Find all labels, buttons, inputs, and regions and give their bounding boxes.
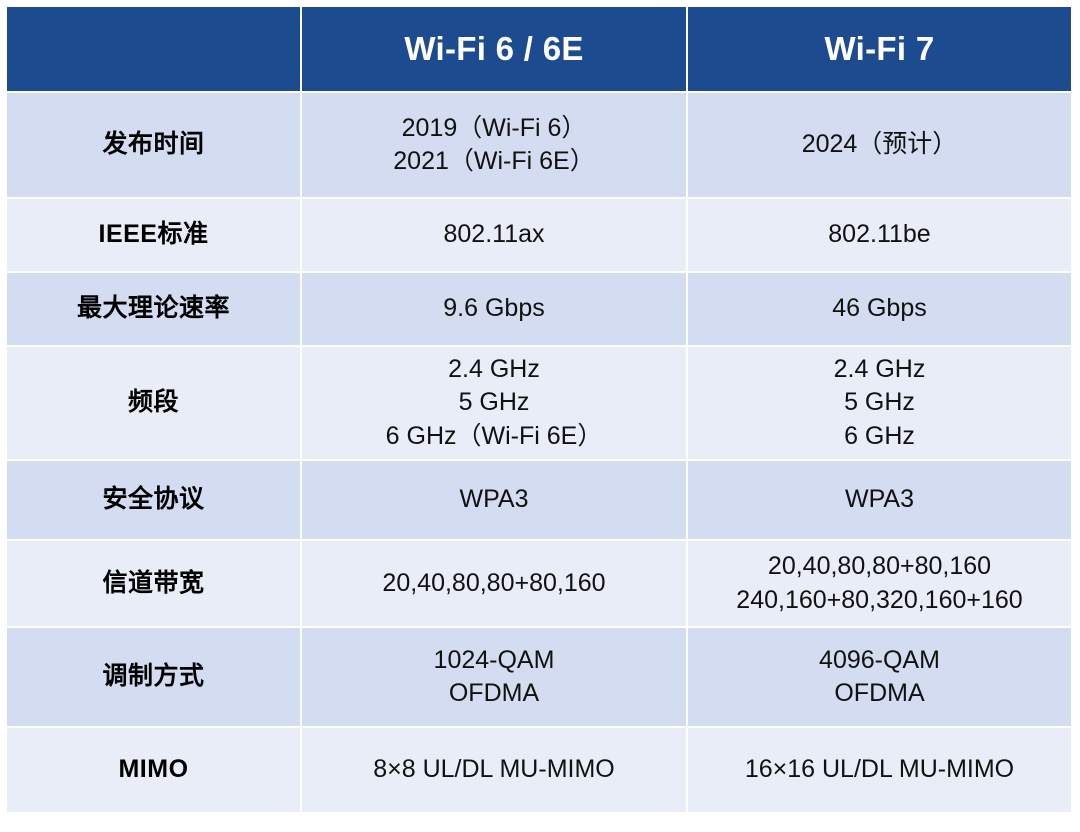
cell-lines: 802.11be: [694, 218, 1065, 252]
cell-line: 20,40,80,80+80,160: [308, 567, 680, 601]
table-header-row: Wi-Fi 6 / 6E Wi-Fi 7: [7, 7, 1071, 91]
row-label-ieee-standard: IEEE标准: [7, 199, 300, 271]
cell-line: 46 Gbps: [694, 292, 1065, 326]
cell-lines: 2024（预计）: [694, 128, 1065, 162]
cell-line: 5 GHz: [694, 386, 1065, 420]
table-row: MIMO 8×8 UL/DL MU-MIMO 16×16 UL/DL MU-MI…: [7, 728, 1071, 812]
cell-wifi7-frequency-bands: 2.4 GHz 5 GHz 6 GHz: [688, 347, 1071, 459]
row-label-channel-bandwidth: 信道带宽: [7, 541, 300, 626]
cell-wifi6-mimo: 8×8 UL/DL MU-MIMO: [302, 728, 686, 812]
cell-lines: 2.4 GHz 5 GHz 6 GHz（Wi-Fi 6E）: [308, 353, 680, 454]
wifi-comparison-table: Wi-Fi 6 / 6E Wi-Fi 7 发布时间 2019（Wi-Fi 6） …: [5, 5, 1073, 814]
cell-wifi7-security-protocol: WPA3: [688, 461, 1071, 539]
row-label-frequency-bands: 频段: [7, 347, 300, 459]
cell-line: 240,160+80,320,160+160: [694, 584, 1065, 618]
table-body: 发布时间 2019（Wi-Fi 6） 2021（Wi-Fi 6E） 2024（预…: [7, 93, 1071, 812]
cell-wifi6-release-time: 2019（Wi-Fi 6） 2021（Wi-Fi 6E）: [302, 93, 686, 197]
cell-wifi6-security-protocol: WPA3: [302, 461, 686, 539]
cell-line: WPA3: [694, 483, 1065, 517]
cell-line: 5 GHz: [308, 386, 680, 420]
cell-lines: WPA3: [308, 483, 680, 517]
header-cell-wifi6: Wi-Fi 6 / 6E: [302, 7, 686, 91]
cell-line: 2.4 GHz: [694, 353, 1065, 387]
cell-lines: 9.6 Gbps: [308, 292, 680, 326]
row-label-modulation: 调制方式: [7, 628, 300, 726]
cell-line: OFDMA: [308, 677, 680, 711]
cell-lines: 8×8 UL/DL MU-MIMO: [308, 753, 680, 787]
cell-wifi7-max-speed: 46 Gbps: [688, 273, 1071, 345]
row-label-mimo: MIMO: [7, 728, 300, 812]
cell-line: WPA3: [308, 483, 680, 517]
cell-lines: 802.11ax: [308, 218, 680, 252]
cell-line: 4096-QAM: [694, 644, 1065, 678]
cell-line: 6 GHz（Wi-Fi 6E）: [308, 420, 680, 454]
table-row: 最大理论速率 9.6 Gbps 46 Gbps: [7, 273, 1071, 345]
cell-line: 2019（Wi-Fi 6）: [308, 112, 680, 146]
table-row: 发布时间 2019（Wi-Fi 6） 2021（Wi-Fi 6E） 2024（预…: [7, 93, 1071, 197]
cell-line: 16×16 UL/DL MU-MIMO: [694, 753, 1065, 787]
cell-lines: WPA3: [694, 483, 1065, 517]
cell-line: 1024-QAM: [308, 644, 680, 678]
cell-lines: 20,40,80,80+80,160: [308, 567, 680, 601]
row-label-max-speed: 最大理论速率: [7, 273, 300, 345]
cell-line: 2021（Wi-Fi 6E）: [308, 145, 680, 179]
cell-wifi6-channel-bandwidth: 20,40,80,80+80,160: [302, 541, 686, 626]
header-cell-feature: [7, 7, 300, 91]
row-label-release-time: 发布时间: [7, 93, 300, 197]
table-row: IEEE标准 802.11ax 802.11be: [7, 199, 1071, 271]
cell-wifi6-max-speed: 9.6 Gbps: [302, 273, 686, 345]
cell-wifi7-ieee-standard: 802.11be: [688, 199, 1071, 271]
table-row: 信道带宽 20,40,80,80+80,160 20,40,80,80+80,1…: [7, 541, 1071, 626]
cell-line: 20,40,80,80+80,160: [694, 550, 1065, 584]
cell-wifi6-ieee-standard: 802.11ax: [302, 199, 686, 271]
cell-wifi7-release-time: 2024（预计）: [688, 93, 1071, 197]
cell-lines: 2.4 GHz 5 GHz 6 GHz: [694, 353, 1065, 454]
cell-wifi6-frequency-bands: 2.4 GHz 5 GHz 6 GHz（Wi-Fi 6E）: [302, 347, 686, 459]
cell-line: 9.6 Gbps: [308, 292, 680, 326]
table-row: 频段 2.4 GHz 5 GHz 6 GHz（Wi-Fi 6E） 2.4 GHz…: [7, 347, 1071, 459]
cell-line: OFDMA: [694, 677, 1065, 711]
header-cell-wifi7: Wi-Fi 7: [688, 7, 1071, 91]
row-label-security-protocol: 安全协议: [7, 461, 300, 539]
cell-line: 2024（预计）: [694, 128, 1065, 162]
cell-lines: 2019（Wi-Fi 6） 2021（Wi-Fi 6E）: [308, 112, 680, 179]
cell-wifi7-mimo: 16×16 UL/DL MU-MIMO: [688, 728, 1071, 812]
cell-line: 6 GHz: [694, 420, 1065, 454]
cell-lines: 46 Gbps: [694, 292, 1065, 326]
cell-lines: 16×16 UL/DL MU-MIMO: [694, 753, 1065, 787]
cell-wifi6-modulation: 1024-QAM OFDMA: [302, 628, 686, 726]
table-row: 安全协议 WPA3 WPA3: [7, 461, 1071, 539]
cell-lines: 4096-QAM OFDMA: [694, 644, 1065, 711]
cell-wifi7-modulation: 4096-QAM OFDMA: [688, 628, 1071, 726]
cell-line: 802.11ax: [308, 218, 680, 252]
comparison-table-container: Wi-Fi 6 / 6E Wi-Fi 7 发布时间 2019（Wi-Fi 6） …: [5, 5, 1073, 819]
table-row: 调制方式 1024-QAM OFDMA 4096-QAM OFDMA: [7, 628, 1071, 726]
cell-wifi7-channel-bandwidth: 20,40,80,80+80,160 240,160+80,320,160+16…: [688, 541, 1071, 626]
cell-line: 802.11be: [694, 218, 1065, 252]
cell-line: 2.4 GHz: [308, 353, 680, 387]
cell-line: 8×8 UL/DL MU-MIMO: [308, 753, 680, 787]
cell-lines: 1024-QAM OFDMA: [308, 644, 680, 711]
table-header: Wi-Fi 6 / 6E Wi-Fi 7: [7, 7, 1071, 91]
cell-lines: 20,40,80,80+80,160 240,160+80,320,160+16…: [694, 550, 1065, 617]
